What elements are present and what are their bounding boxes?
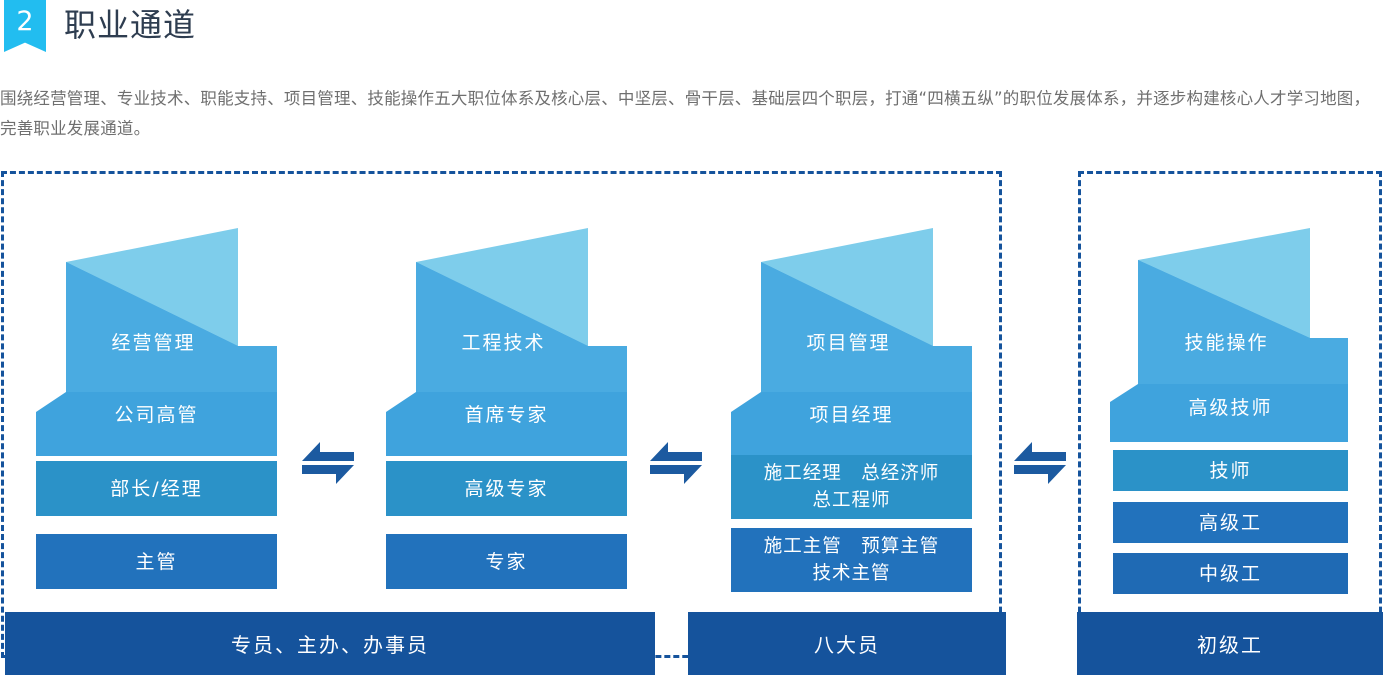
tier-label-2-2: 首席专家 [386,392,627,438]
page-header: 2 职业通道 [0,0,1383,62]
section-number-badge: 2 [4,0,46,52]
exchange-arrow-icon-1 [300,440,356,486]
footer-bar-1-label: 专员、主办、办事员 [231,629,429,658]
exchange-arrow-icon-3 [1012,440,1068,486]
tier-bar-4-3: 技师 [1113,450,1348,491]
tier-bar-4-5: 中级工 [1113,553,1348,594]
footer-bar-3-label: 初级工 [1197,629,1263,658]
footer-bar-2: 八大员 [688,612,1006,675]
tier-bar-2-3: 高级专家 [386,461,627,516]
footer-bar-3: 初级工 [1077,612,1383,675]
tier-label-3-1: 项目管理 [725,320,972,366]
tier-label-1-2: 公司高管 [36,392,277,438]
tier-bar-1-4: 主管 [36,534,277,589]
exchange-arrow-icon-2 [648,440,704,486]
tier-label-3-2: 项目经理 [731,392,972,438]
tier-bar-1-3: 部长/经理 [36,461,277,516]
tier-label-1-1: 经营管理 [30,320,277,366]
tier-bar-3-3: 施工经理 总经济师 总工程师 [731,455,972,519]
tier-label-4-2: 高级技师 [1113,386,1348,430]
page-title: 职业通道 [64,2,196,48]
career-path-infographic: 2 职业通道 围绕经营管理、专业技术、职能支持、项目管理、技能操作五大职位体系及… [0,0,1383,677]
section-description: 围绕经营管理、专业技术、职能支持、项目管理、技能操作五大职位体系及核心层、中坚层… [0,84,1383,144]
tier-label-2-1: 工程技术 [380,320,627,366]
footer-bar-1: 专员、主办、办事员 [5,612,655,675]
tier-bar-4-4: 高级工 [1113,502,1348,543]
tier-label-4-1: 技能操作 [1105,320,1348,366]
footer-bar-2-label: 八大员 [814,629,880,658]
tier-bar-2-4: 专家 [386,534,627,589]
tier-bar-3-4: 施工主管 预算主管 技术主管 [731,528,972,592]
